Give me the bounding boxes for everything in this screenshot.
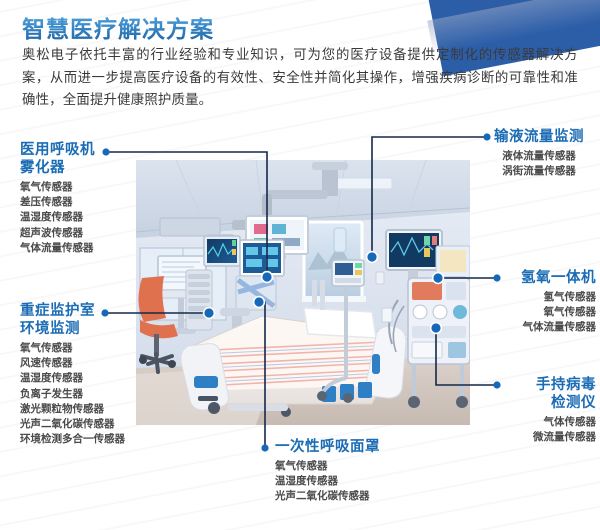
list-item: 光声二氧化碳传感器	[275, 489, 380, 504]
list-item: 温湿度传感器	[275, 474, 380, 489]
list-item: 负离子发生器	[20, 387, 125, 402]
callout-title-respiratory-mask: 一次性呼吸面罩	[275, 438, 380, 456]
callout-list-icu-environment: 氧气传感器 风速传感器 温湿度传感器 负离子发生器 激光颗粒物传感器 光声二氧化…	[20, 341, 125, 447]
callout-infusion-flow-monitoring: 输液流量监测 液体流量传感器 涡街流量传感器	[494, 128, 584, 179]
callout-title-hydrogen-oxygen: 氢氧一体机	[504, 269, 596, 287]
list-item: 风速传感器	[20, 356, 125, 371]
page-title: 智慧医疗解决方案	[22, 10, 214, 44]
list-item: 氧气传感器	[20, 341, 125, 356]
list-item: 温湿度传感器	[20, 210, 95, 225]
page-description: 奥松电子依托丰富的行业经验和专业知识，可为您的医疗设备提供定制化的传感器解决方案…	[22, 44, 578, 112]
callout-title-ventilator-nebulizer: 医用呼吸机 雾化器	[20, 141, 95, 177]
list-item: 氢气传感器	[504, 290, 596, 305]
callout-ventilator-nebulizer: 医用呼吸机 雾化器 氧气传感器 差压传感器 温湿度传感器 超声波传感器 气体流量…	[20, 141, 95, 256]
list-item: 液体流量传感器	[494, 149, 584, 164]
list-item: 氧气传感器	[504, 305, 596, 320]
callout-list-hydrogen-oxygen: 氢气传感器 氧气传感器 气体流量传感器	[504, 290, 596, 336]
list-item: 涡街流量传感器	[494, 164, 584, 179]
list-item: 气体流量传感器	[504, 320, 596, 335]
callout-title-icu-environment: 重症监护室 环境监测	[20, 302, 125, 338]
list-item: 微流量传感器	[504, 430, 596, 445]
infographic-page: 智慧医疗解决方案 奥松电子依托丰富的行业经验和专业知识，可为您的医疗设备提供定制…	[0, 0, 600, 530]
list-item: 温湿度传感器	[20, 371, 125, 386]
callout-title-infusion-flow: 输液流量监测	[494, 128, 584, 146]
callout-disposable-respiratory-mask: 一次性呼吸面罩 氧气传感器 温湿度传感器 光声二氧化碳传感器	[275, 438, 380, 505]
callout-list-handheld-virus: 气体传感器 微流量传感器	[504, 415, 596, 445]
dot-hydrogen-oxygen-label	[493, 274, 500, 281]
callout-list-respiratory-mask: 氧气传感器 温湿度传感器 光声二氧化碳传感器	[275, 459, 380, 505]
hospital-room-illustration	[136, 160, 470, 425]
dot-ventilator-nebulizer-label	[102, 148, 109, 155]
list-item: 气体传感器	[504, 415, 596, 430]
list-item: 氧气传感器	[275, 459, 380, 474]
callout-icu-environment: 重症监护室 环境监测 氧气传感器 风速传感器 温湿度传感器 负离子发生器 激光颗…	[20, 302, 125, 447]
dot-respiratory-mask-label	[261, 444, 268, 451]
callout-list-ventilator-nebulizer: 氧气传感器 差压传感器 温湿度传感器 超声波传感器 气体流量传感器	[20, 180, 95, 256]
list-item: 差压传感器	[20, 195, 95, 210]
dot-handheld-virus-label	[493, 381, 500, 388]
list-item: 环境检测多合一传感器	[20, 432, 125, 447]
dot-infusion-flow-label	[483, 133, 490, 140]
callout-hydrogen-oxygen-machine: 氢氧一体机 氢气传感器 氧气传感器 气体流量传感器	[504, 269, 596, 336]
list-item: 光声二氧化碳传感器	[20, 417, 125, 432]
list-item: 氧气传感器	[20, 180, 95, 195]
callout-list-infusion-flow: 液体流量传感器 涡街流量传感器	[494, 149, 584, 179]
list-item: 激光颗粒物传感器	[20, 402, 125, 417]
list-item: 气体流量传感器	[20, 241, 95, 256]
callout-title-handheld-virus: 手持病毒 检测仪	[504, 376, 596, 412]
callout-handheld-virus-detector: 手持病毒 检测仪 气体传感器 微流量传感器	[504, 376, 596, 445]
list-item: 超声波传感器	[20, 226, 95, 241]
hospital-room-photo	[136, 160, 470, 425]
